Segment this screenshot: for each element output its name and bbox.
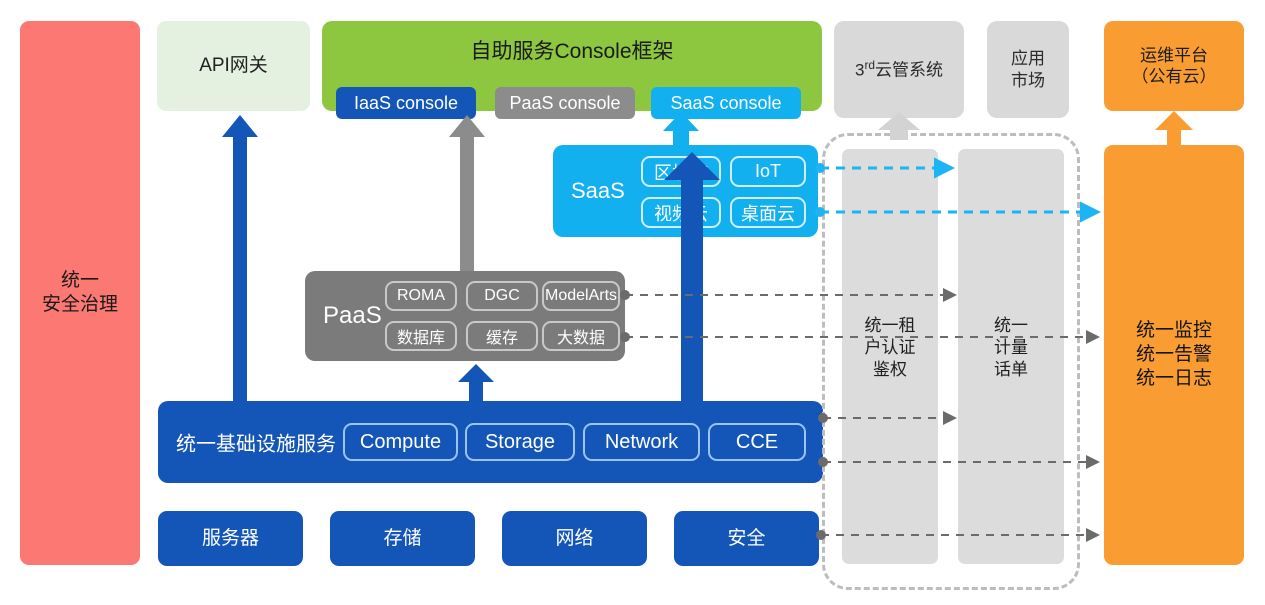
arrow-infra-to-api-gateway	[222, 115, 258, 401]
resource-box-network[interactable]: 网络	[502, 511, 647, 566]
ops-panel-line1: 统一监控	[1136, 319, 1212, 343]
ops-platform-top-label: 运维平台 （公有云）	[1132, 45, 1217, 88]
third-party-superscript: rd	[864, 58, 875, 72]
arrow-paas-to-console	[449, 115, 485, 271]
saas-layer-box: SaaS 区块链 IoT 视频云 桌面云	[553, 145, 818, 237]
metering-line1: 统一	[958, 315, 1064, 337]
paas-service-bigdata[interactable]: 大数据	[542, 321, 620, 351]
saas-service-iot[interactable]: IoT	[730, 156, 806, 187]
iaas-console-chip[interactable]: IaaS console	[336, 87, 476, 119]
resource-label: 安全	[727, 527, 765, 551]
security-governance-panel: 统一 安全治理	[20, 21, 140, 565]
paas-service-label: 缓存	[486, 324, 518, 348]
console-framework-title: 自助服务Console框架	[322, 35, 822, 65]
saas-console-chip[interactable]: SaaS console	[651, 87, 801, 119]
unified-tenant-auth-column[interactable]: 统一租 户认证 鉴权	[842, 149, 938, 564]
metering-line3: 话单	[958, 359, 1064, 381]
third-party-suffix: 云管系统	[875, 61, 943, 80]
auth-line1: 统一租	[842, 315, 938, 337]
paas-console-chip[interactable]: PaaS console	[495, 87, 635, 119]
security-governance-line2: 安全治理	[42, 293, 118, 317]
infra-service-storage[interactable]: Storage	[465, 423, 575, 461]
auth-line2: 户认证	[842, 337, 938, 359]
saas-layer-label: SaaS	[571, 178, 625, 204]
ops-platform-panel-label: 统一监控 统一告警 统一日志	[1136, 319, 1212, 390]
ops-platform-top-line2: （公有云）	[1132, 66, 1217, 87]
paas-service-dgc[interactable]: DGC	[466, 281, 538, 311]
infra-service-label: Network	[605, 431, 678, 454]
saas-service-video-cloud[interactable]: 视频云	[641, 197, 721, 228]
saas-service-label: 区块链	[654, 159, 708, 185]
infra-service-cce[interactable]: CCE	[708, 423, 806, 461]
app-market-line2: 市场	[1011, 70, 1045, 91]
infra-service-network[interactable]: Network	[583, 423, 700, 461]
resource-label: 存储	[383, 527, 421, 551]
resource-box-security[interactable]: 安全	[674, 511, 819, 566]
arrow-ops-panel-to-ops-top	[1155, 111, 1193, 145]
paas-service-label: ModelArts	[545, 287, 617, 305]
infrastructure-layer-box: 统一基础设施服务 Compute Storage Network CCE	[158, 401, 823, 483]
arrow-infra-to-paas	[458, 364, 494, 401]
paas-layer-box: PaaS ROMA DGC ModelArts 数据库 缓存 大数据	[305, 271, 625, 361]
app-market-line1: 应用	[1011, 48, 1045, 69]
iaas-console-label: IaaS console	[354, 93, 458, 114]
ops-platform-panel: 统一监控 统一告警 统一日志	[1104, 145, 1244, 565]
saas-service-desktop-cloud[interactable]: 桌面云	[730, 197, 806, 228]
paas-service-label: 数据库	[397, 324, 445, 348]
ops-platform-top-line1: 运维平台	[1132, 45, 1217, 66]
paas-console-label: PaaS console	[509, 93, 620, 114]
paas-service-label: ROMA	[397, 287, 445, 305]
infra-service-label: Storage	[485, 431, 555, 454]
third-party-cloud-mgmt-label: 3rd云管系统	[855, 58, 943, 81]
paas-service-label: DGC	[484, 287, 520, 305]
paas-service-modelarts[interactable]: ModelArts	[542, 281, 620, 311]
third-party-cloud-mgmt-box[interactable]: 3rd云管系统	[834, 21, 964, 118]
saas-service-label: 桌面云	[741, 200, 795, 226]
architecture-diagram: 统一 安全治理 API网关 自助服务Console框架 IaaS console…	[0, 0, 1265, 605]
api-gateway-label: API网关	[199, 54, 268, 78]
app-market-label: 应用 市场	[1011, 48, 1045, 91]
paas-service-label: 大数据	[557, 324, 605, 348]
saas-service-label: IoT	[755, 161, 781, 182]
paas-service-cache[interactable]: 缓存	[466, 321, 538, 351]
infrastructure-layer-label: 统一基础设施服务	[176, 428, 336, 457]
saas-service-label: 视频云	[654, 200, 708, 226]
api-gateway-box[interactable]: API网关	[157, 21, 310, 111]
infra-service-compute[interactable]: Compute	[343, 423, 458, 461]
security-governance-label: 统一 安全治理	[42, 269, 118, 317]
paas-service-roma[interactable]: ROMA	[385, 281, 457, 311]
unified-tenant-auth-label: 统一租 户认证 鉴权	[842, 315, 938, 381]
app-market-box[interactable]: 应用 市场	[987, 21, 1069, 118]
unified-metering-label: 统一 计量 话单	[958, 315, 1064, 381]
resource-box-storage[interactable]: 存储	[330, 511, 475, 566]
ops-panel-line2: 统一告警	[1136, 343, 1212, 367]
ops-platform-top-box[interactable]: 运维平台 （公有云）	[1104, 21, 1244, 111]
infra-service-label: CCE	[736, 431, 778, 454]
paas-layer-label: PaaS	[323, 302, 382, 330]
infra-service-label: Compute	[360, 431, 441, 454]
resource-label: 服务器	[202, 527, 259, 551]
metering-line2: 计量	[958, 337, 1064, 359]
auth-line3: 鉴权	[842, 359, 938, 381]
security-governance-line1: 统一	[42, 269, 118, 293]
resource-label: 网络	[555, 527, 593, 551]
saas-service-blockchain[interactable]: 区块链	[641, 156, 721, 187]
unified-metering-column[interactable]: 统一 计量 话单	[958, 149, 1064, 564]
saas-console-label: SaaS console	[670, 93, 781, 114]
ops-panel-line3: 统一日志	[1136, 367, 1212, 391]
console-framework-box: 自助服务Console框架 IaaS console PaaS console …	[322, 21, 822, 111]
paas-service-database[interactable]: 数据库	[385, 321, 457, 351]
resource-box-server[interactable]: 服务器	[158, 511, 303, 566]
